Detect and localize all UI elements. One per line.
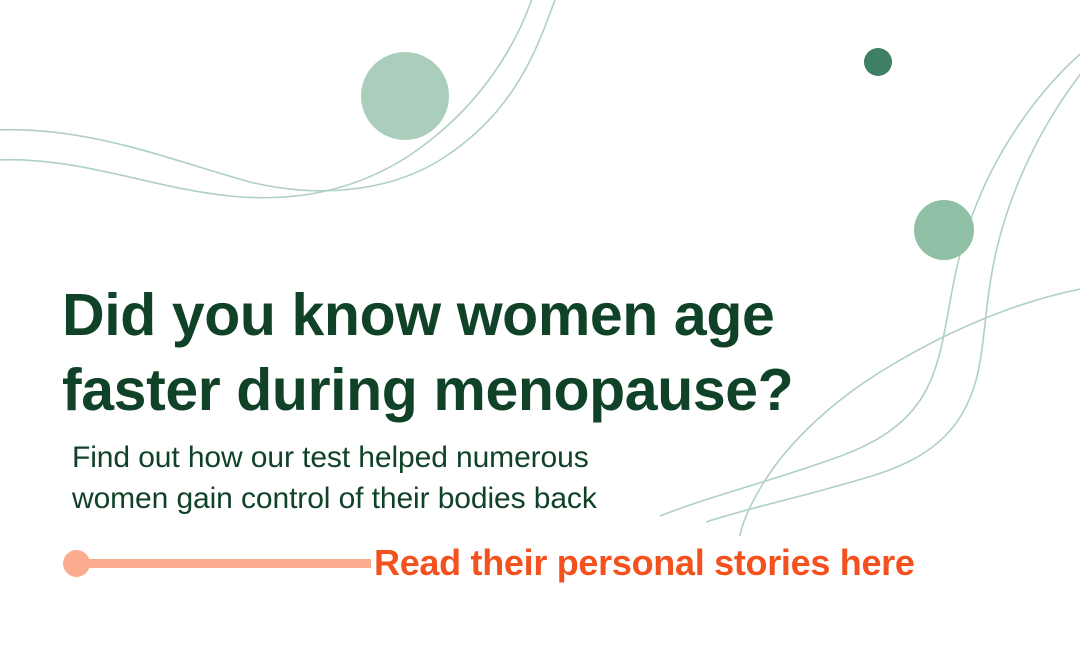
banner-content: Did you know women age faster during men… — [0, 0, 1080, 670]
subtitle-line-1: Find out how our test helped numerous — [72, 437, 597, 478]
headline-line-2: faster during menopause? — [62, 353, 793, 428]
headline: Did you know women age faster during men… — [62, 278, 793, 428]
subtitle-line-2: women gain control of their bodies back — [72, 478, 597, 519]
subtitle: Find out how our test helped numerous wo… — [72, 437, 597, 519]
promo-banner: Did you know women age faster during men… — [0, 0, 1080, 670]
cta-link[interactable]: Read their personal stories here — [63, 535, 915, 591]
headline-line-1: Did you know women age — [62, 278, 793, 353]
cta-label[interactable]: Read their personal stories here — [374, 542, 915, 584]
cta-rule-divider — [86, 559, 371, 568]
